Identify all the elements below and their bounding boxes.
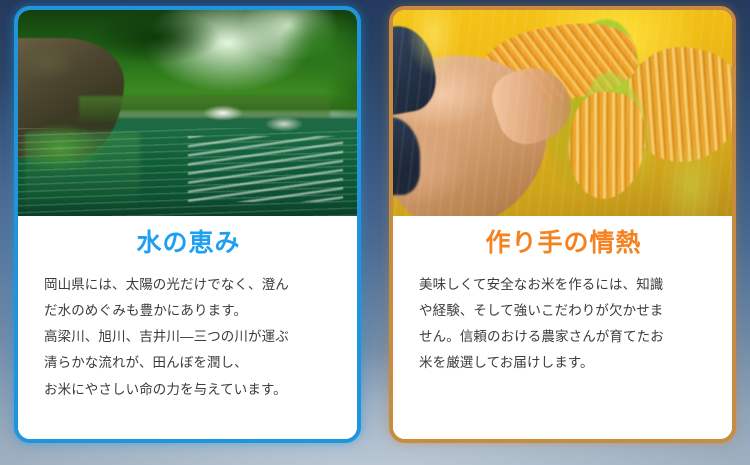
feature-card-water-blessing[interactable]: 水の恵み 岡山県には、太陽の光だけでなく、澄ん だ水のめぐみも豊かにあります。 … xyxy=(14,6,361,443)
card-text-line: お米にやさしい命の力を与えています。 xyxy=(44,377,333,403)
card-photo-rice xyxy=(393,10,732,216)
card-text-line: 米を厳選してお届けします。 xyxy=(419,350,708,376)
card-text-makers-passion: 美味しくて安全なお米を作るには、知識 や経験、そして強いこだわりが欠かせま せん… xyxy=(419,272,708,377)
feature-card-makers-passion[interactable]: 作り手の情熱 美味しくて安全なお米を作るには、知識 や経験、そして強いこだわりが… xyxy=(389,6,736,443)
card-title-water-blessing: 水の恵み xyxy=(44,230,333,258)
card-photo-river xyxy=(18,10,357,216)
feature-card-row: 水の恵み 岡山県には、太陽の光だけでなく、澄ん だ水のめぐみも豊かにあります。 … xyxy=(0,0,750,465)
card-text-line: せん。信頼のおける農家さんが育てたお xyxy=(419,324,708,350)
card-text-line: 美味しくて安全なお米を作るには、知識 xyxy=(419,272,708,298)
card-text-line: や経験、そして強いこだわりが欠かせま xyxy=(419,298,708,324)
card-text-line: 清らかな流れが、田んぼを潤し、 xyxy=(44,350,333,376)
card-text-line: 高梁川、旭川、吉井川―三つの川が運ぶ xyxy=(44,324,333,350)
card-body-makers-passion: 作り手の情熱 美味しくて安全なお米を作るには、知識 や経験、そして強いこだわりが… xyxy=(393,216,732,439)
card-text-line: だ水のめぐみも豊かにあります。 xyxy=(44,298,333,324)
card-body-water-blessing: 水の恵み 岡山県には、太陽の光だけでなく、澄ん だ水のめぐみも豊かにあります。 … xyxy=(18,216,357,439)
river-sun-glint xyxy=(188,136,344,202)
card-title-makers-passion: 作り手の情熱 xyxy=(419,230,708,258)
river-whitewater xyxy=(194,102,252,124)
card-text-water-blessing: 岡山県には、太陽の光だけでなく、澄ん だ水のめぐみも豊かにあります。 高梁川、旭… xyxy=(44,272,333,404)
card-text-line: 岡山県には、太陽の光だけでなく、澄ん xyxy=(44,272,333,298)
